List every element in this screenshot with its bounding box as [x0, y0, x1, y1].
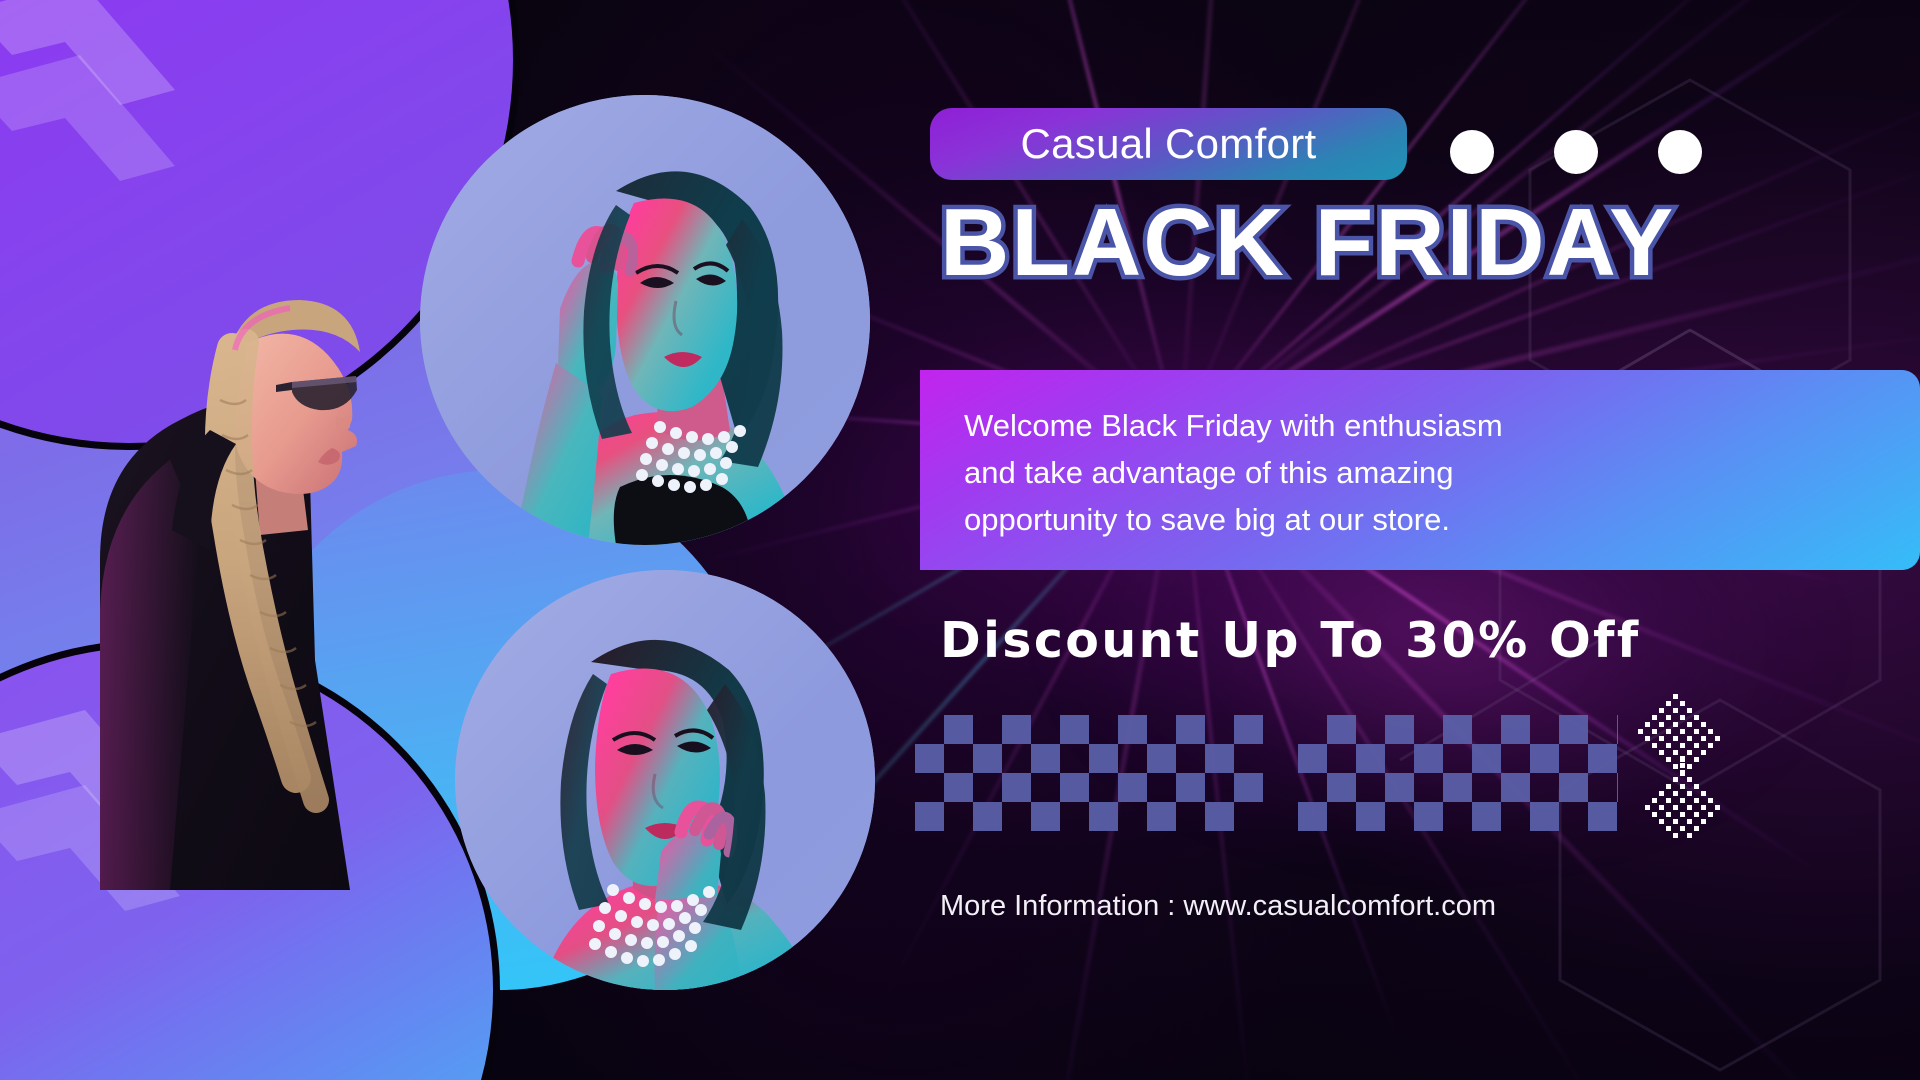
description-line-2: and take advantage of this amazing [964, 449, 1864, 496]
black-friday-banner: Casual Comfort BLACK FRIDAY Welcome Blac… [0, 0, 1920, 1080]
description-line-1: Welcome Black Friday with enthusiasm [964, 402, 1864, 449]
portrait-photo-top [420, 95, 870, 545]
dot-indicator-3[interactable] [1658, 130, 1702, 174]
description-line-3: opportunity to save big at our store. [964, 496, 1864, 543]
checkerboard-decoration-2 [1298, 715, 1618, 831]
model-photo-hoodie [60, 230, 480, 910]
dot-indicator-1[interactable] [1450, 130, 1494, 174]
dotted-diamond-icon [1620, 690, 1732, 840]
portrait-photo-bottom [455, 570, 875, 990]
description-panel: Welcome Black Friday with enthusiasm and… [920, 370, 1920, 570]
content-column: Casual Comfort BLACK FRIDAY Welcome Blac… [930, 0, 1920, 1080]
footer-info[interactable]: More Information : www.casualcomfort.com [940, 890, 1496, 923]
dot-indicator-2[interactable] [1554, 130, 1598, 174]
discount-text: Discount Up To 30% Off [940, 612, 1641, 669]
brand-badge-label: Casual Comfort [1021, 120, 1317, 168]
dot-indicators [1450, 130, 1702, 174]
checkerboard-decoration-1 [915, 715, 1263, 831]
brand-badge[interactable]: Casual Comfort [930, 108, 1407, 180]
page-title: BLACK FRIDAY [940, 188, 1910, 298]
